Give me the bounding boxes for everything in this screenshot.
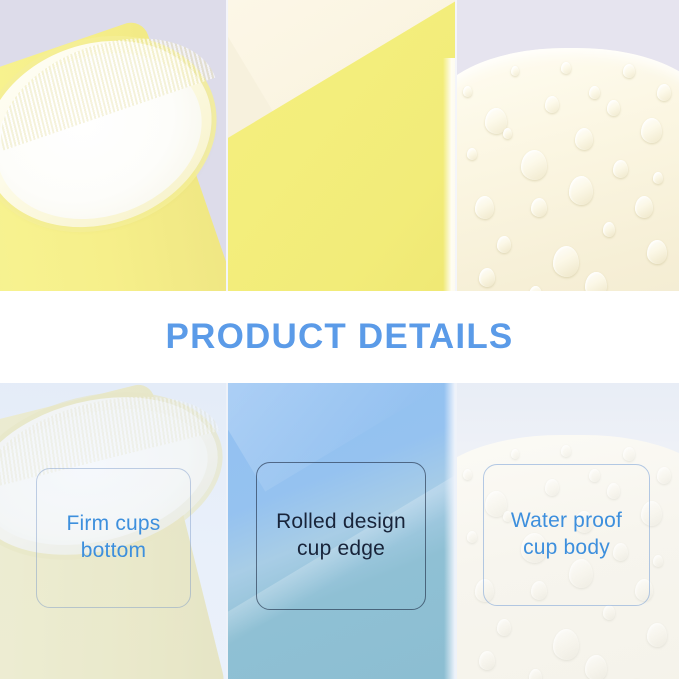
water-droplet xyxy=(561,445,571,457)
water-droplet xyxy=(635,196,653,218)
water-droplet xyxy=(531,198,547,217)
water-droplet xyxy=(553,246,579,277)
caption-text: Water proof cup body xyxy=(511,508,622,562)
water-droplet xyxy=(561,62,571,74)
caption-box-waterproof: Water proof cup body xyxy=(483,464,650,606)
edge-highlight xyxy=(444,383,455,679)
water-droplet xyxy=(589,86,600,99)
photo-water-droplets xyxy=(457,0,679,291)
water-droplet xyxy=(575,128,593,150)
water-droplet xyxy=(497,619,511,636)
water-droplet xyxy=(623,64,635,78)
photo-cup-rim xyxy=(0,0,226,291)
water-droplet xyxy=(603,222,615,237)
water-droplet xyxy=(623,447,635,461)
panel-divider xyxy=(226,383,228,679)
photo-rolled-edge xyxy=(228,0,455,291)
water-droplet xyxy=(641,118,662,143)
caption-box-rolled-edge: Rolled design cup edge xyxy=(256,462,426,610)
caption-box-firm-bottom: Firm cups bottom xyxy=(36,468,191,608)
water-droplet xyxy=(511,449,519,459)
water-droplet xyxy=(497,236,511,253)
caption-line-1: Rolled design xyxy=(276,510,406,533)
water-droplet xyxy=(521,150,547,180)
water-droplet xyxy=(467,531,477,543)
water-droplet xyxy=(511,66,519,76)
caption-line-1: Firm cups xyxy=(67,512,161,535)
water-droplet xyxy=(463,86,472,97)
title-band: PRODUCT DETAILS xyxy=(0,291,679,383)
water-droplet xyxy=(545,96,559,113)
page-title: PRODUCT DETAILS xyxy=(166,317,514,357)
panel-divider xyxy=(455,0,457,291)
product-details-collage: PRODUCT DETAILS Firm cups bottom Rolled … xyxy=(0,0,679,679)
water-droplet xyxy=(479,268,495,287)
panel-divider xyxy=(226,0,228,291)
water-droplet xyxy=(475,196,494,219)
caption-text: Firm cups bottom xyxy=(67,511,161,565)
water-droplet xyxy=(603,605,615,620)
water-droplet xyxy=(467,148,477,160)
caption-line-2: bottom xyxy=(81,539,146,562)
water-droplet xyxy=(503,128,512,139)
edge-highlight xyxy=(443,58,455,291)
panel-divider xyxy=(455,383,457,679)
water-droplet xyxy=(647,240,667,264)
caption-line-1: Water proof xyxy=(511,509,622,532)
caption-line-2: cup edge xyxy=(297,537,385,560)
water-droplet xyxy=(529,669,542,679)
water-droplet xyxy=(613,160,628,178)
water-droplet xyxy=(653,172,663,184)
water-droplet xyxy=(653,555,663,567)
water-droplet xyxy=(479,651,495,670)
water-droplet xyxy=(553,629,579,660)
caption-text: Rolled design cup edge xyxy=(276,509,406,563)
water-droplet xyxy=(657,467,671,484)
water-droplet xyxy=(463,469,472,480)
water-droplet xyxy=(585,655,607,679)
water-droplet xyxy=(607,100,620,116)
caption-line-2: cup body xyxy=(523,536,610,559)
water-droplet xyxy=(657,84,671,101)
water-droplet xyxy=(647,623,667,647)
water-droplet xyxy=(569,176,593,205)
